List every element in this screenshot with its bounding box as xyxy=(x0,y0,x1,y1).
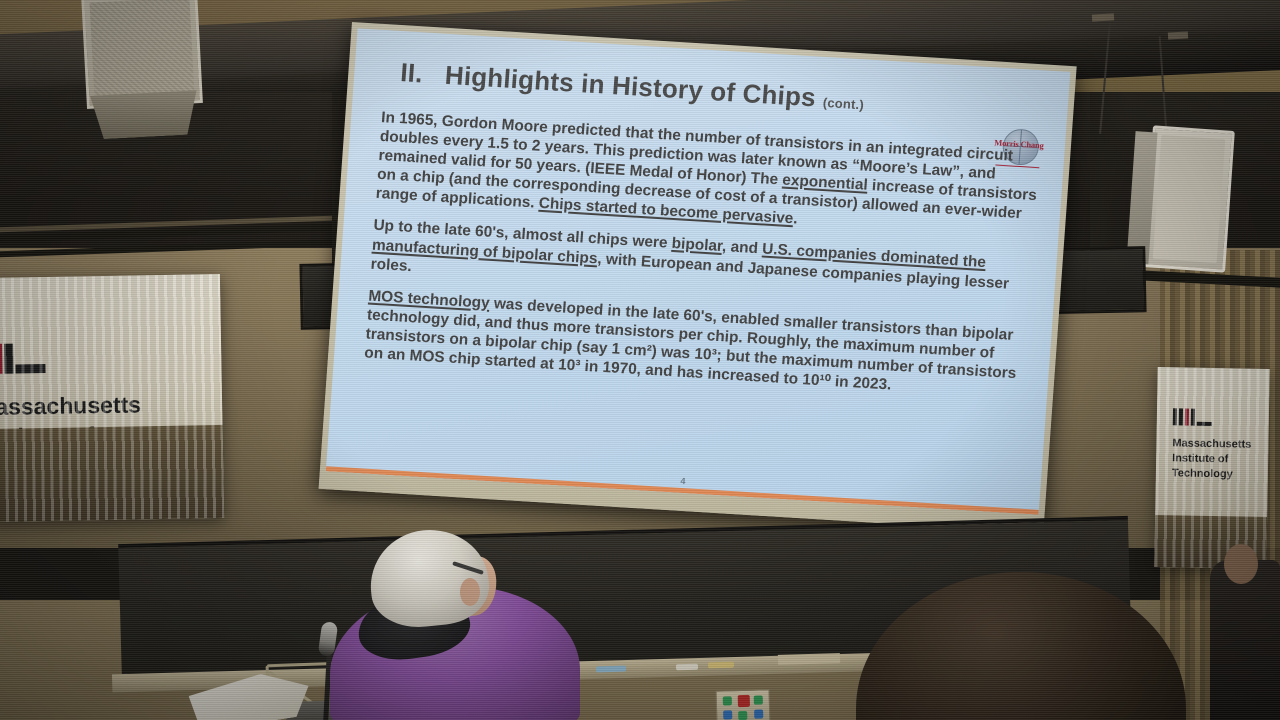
slide-title-suffix: (cont.) xyxy=(822,95,864,112)
body-text: . xyxy=(793,211,798,228)
mit-banner-right: Massachusetts Institute of Technology xyxy=(1154,367,1269,569)
person-face xyxy=(1224,544,1258,584)
banner-fabric-texture xyxy=(0,274,224,522)
lecture-hall-photo: II. Highlights in History of Chips (cont… xyxy=(0,0,1280,720)
slide-title-number: II. xyxy=(399,57,423,88)
control-button-green[interactable] xyxy=(723,696,732,705)
projection-screen: II. Highlights in History of Chips (cont… xyxy=(318,22,1091,546)
banner-fabric-texture xyxy=(1154,367,1269,569)
control-button-blue[interactable] xyxy=(754,709,763,718)
control-button-red[interactable] xyxy=(738,695,750,707)
slide-title-text: Highlights in History of Chips xyxy=(444,60,817,113)
standing-person-right-edge xyxy=(1210,560,1280,720)
hanging-speaker-right xyxy=(1143,125,1235,272)
body-text: , and xyxy=(721,238,762,257)
slide-body: In 1965, Gordon Moore predicted that the… xyxy=(363,108,1051,416)
mit-banner-left: Massachusetts Institute of Technology xyxy=(0,274,224,522)
wall-control-panel[interactable] xyxy=(716,689,771,720)
speaker-enclosure xyxy=(85,90,203,140)
screen-frame: II. Highlights in History of Chips (cont… xyxy=(319,22,1077,533)
chalk-piece xyxy=(708,662,734,669)
control-button-green[interactable] xyxy=(738,711,747,720)
control-button-green[interactable] xyxy=(754,695,763,704)
speaker-grille-icon xyxy=(90,0,195,101)
slide-page-number: 4 xyxy=(326,454,1039,508)
ceiling-mount xyxy=(1092,13,1114,21)
lecturer-ear xyxy=(460,578,480,606)
control-button-blue[interactable] xyxy=(723,710,732,719)
wall-speaker-left xyxy=(81,0,203,109)
ceiling-mount-2 xyxy=(1168,31,1188,39)
chalk-piece xyxy=(596,666,626,673)
speaker-grille-icon xyxy=(1153,135,1225,263)
presentation-slide: II. Highlights in History of Chips (cont… xyxy=(326,28,1070,514)
emphasis-text: bipolar xyxy=(671,235,723,255)
chalk-piece xyxy=(676,664,698,671)
eraser xyxy=(778,653,840,665)
